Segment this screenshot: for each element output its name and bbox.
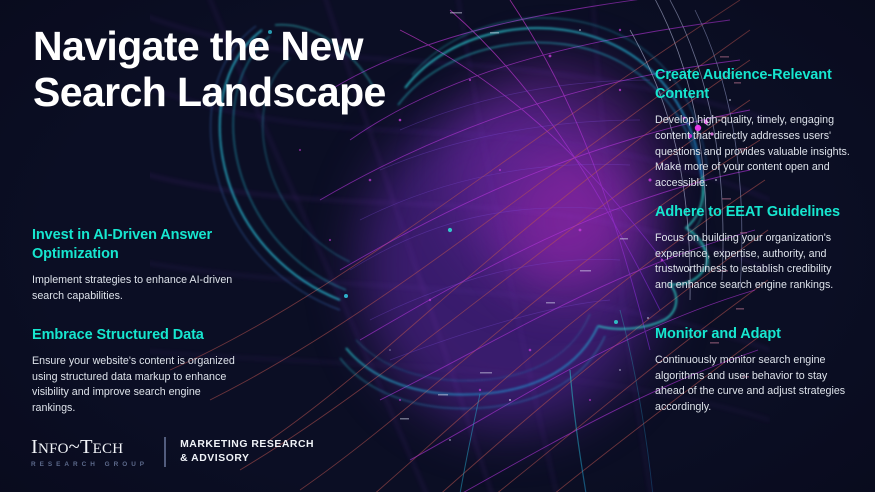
tip-heading: Invest in AI-Driven Answer Optimization [32,226,247,264]
logo-subtitle: RESEARCH GROUP [31,461,148,468]
tip-block-invest-ai: Invest in AI-Driven Answer Optimization … [32,226,247,305]
tip-heading: Adhere to EEAT Guidelines [655,203,850,222]
tip-block-monitor-adapt: Monitor and Adapt Continuously monitor s… [655,325,850,416]
infographic-canvas: Navigate the New Search Landscape Invest… [0,0,875,492]
tip-body: Ensure your website's content is organiz… [32,354,247,417]
logo-word-text: INFO~TECH [31,437,148,458]
tip-heading: Embrace Structured Data [32,326,247,345]
logo-wordmark: INFO~TECH RESEARCH GROUP [31,437,148,468]
tip-body: Develop high-quality, timely, engaging c… [655,113,850,191]
logo-i: I [31,436,38,458]
tip-body: Focus on building your organization's ex… [655,231,850,294]
logo-divider [164,437,166,467]
logo-ech: ECH [93,441,124,457]
brand-logo: INFO~TECH RESEARCH GROUP MARKETING RESEA… [31,437,314,468]
logo-tagline: MARKETING RESEARCH & ADVISORY [180,438,314,466]
logo-tagline-line2: & ADVISORY [180,452,314,466]
logo-tagline-line1: MARKETING RESEARCH [180,438,314,452]
tip-heading: Create Audience-Relevant Content [655,66,850,104]
tip-body: Implement strategies to enhance AI-drive… [32,273,247,304]
logo-tilde: ~ [69,436,80,458]
tip-block-structured-data: Embrace Structured Data Ensure your webs… [32,326,247,417]
tip-body: Continuously monitor search engine algor… [655,353,850,416]
tip-heading: Monitor and Adapt [655,325,850,344]
tip-block-audience-content: Create Audience-Relevant Content Develop… [655,66,850,191]
logo-t: T [80,436,93,458]
logo-nfo: NFO [38,441,69,457]
page-title: Navigate the New Search Landscape [33,24,463,116]
tip-block-eeat-guidelines: Adhere to EEAT Guidelines Focus on build… [655,203,850,294]
